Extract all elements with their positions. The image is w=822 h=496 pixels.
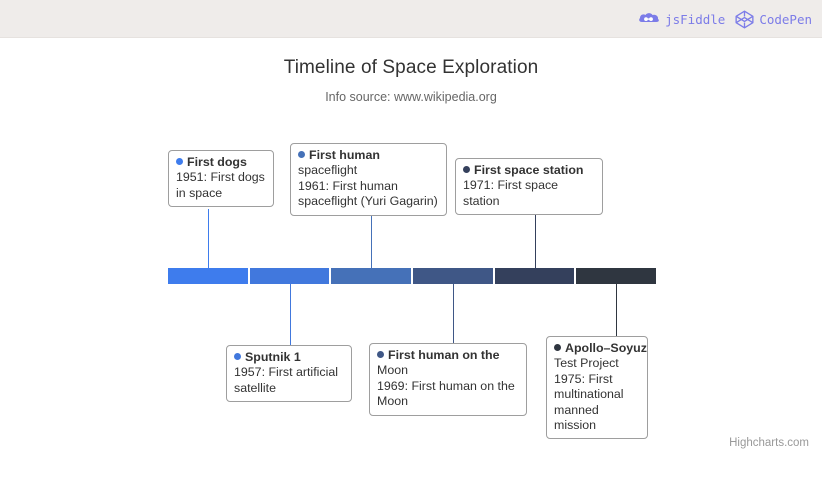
timeline-label-box[interactable]: First dogs1951: First dogs in space (168, 150, 274, 207)
jsfiddle-label: jsFiddle (665, 12, 725, 27)
timeline-label-description: 1961: First human spaceflight (Yuri Gaga… (298, 179, 439, 210)
timeline-label-name: Sputnik 1 (245, 350, 301, 364)
timeline-label-name: First human on the (388, 348, 500, 362)
timeline-label-title: Apollo–Soyuz (554, 341, 640, 356)
timeline-label-description: 1971: First space station (463, 178, 595, 209)
timeline-label-title: Sputnik 1 (234, 350, 344, 365)
timeline-label-description: 1951: First dogs in space (176, 170, 266, 201)
timeline-label-name: First space station (474, 163, 583, 177)
timeline-label-name-cont: spaceflight (298, 163, 439, 178)
timeline-segment[interactable] (413, 268, 493, 284)
timeline-connector (453, 284, 454, 343)
chart-title: Timeline of Space Exploration (0, 57, 822, 79)
topbar: jsFiddle CodePen (0, 0, 822, 38)
timeline-segment[interactable] (576, 268, 656, 284)
timeline-connector (208, 209, 209, 268)
timeline-label-title: First human on the (377, 348, 519, 363)
timeline-label-name: First human (309, 148, 380, 162)
jsfiddle-link[interactable]: jsFiddle (638, 11, 725, 27)
chart-page: jsFiddle CodePen (0, 0, 822, 496)
timeline-label-box[interactable]: Sputnik 11957: First artificial satellit… (226, 345, 352, 402)
timeline-point-dot-icon (298, 151, 305, 158)
codepen-link[interactable]: CodePen (735, 10, 812, 29)
jsfiddle-icon (638, 11, 660, 27)
timeline-segment[interactable] (168, 268, 248, 284)
timeline-label-name: First dogs (187, 155, 247, 169)
timeline-label-name-cont: Moon (377, 363, 519, 378)
timeline-label-description: 1975: First multinational manned mission (554, 372, 640, 434)
highcharts-credits[interactable]: Highcharts.com (729, 437, 809, 449)
timeline-point-dot-icon (554, 344, 561, 351)
timeline-point-dot-icon (176, 158, 183, 165)
topbar-links: jsFiddle CodePen (638, 0, 812, 38)
timeline-connector (371, 212, 372, 268)
timeline-connector (290, 284, 291, 345)
timeline-point-dot-icon (377, 351, 384, 358)
timeline-segment[interactable] (331, 268, 411, 284)
timeline-label-name-cont: Test Project (554, 356, 640, 371)
timeline-label-name: Apollo–Soyuz (565, 341, 647, 355)
codepen-icon (735, 10, 754, 29)
timeline-segment[interactable] (495, 268, 575, 284)
timeline-label-description: 1957: First artificial satellite (234, 365, 344, 396)
timeline-label-title: First space station (463, 163, 595, 178)
timeline-label-title: First dogs (176, 155, 266, 170)
timeline-segment[interactable] (250, 268, 330, 284)
timeline-label-box[interactable]: First humanspaceflight1961: First human … (290, 143, 447, 216)
timeline-label-box[interactable]: First human on theMoon1969: First human … (369, 343, 527, 416)
timeline-label-title: First human (298, 148, 439, 163)
timeline-label-box[interactable]: First space station1971: First space sta… (455, 158, 603, 215)
timeline-label-box[interactable]: Apollo–SoyuzTest Project1975: First mult… (546, 336, 648, 439)
timeline-point-dot-icon (463, 166, 470, 173)
chart-subtitle: Info source: www.wikipedia.org (0, 90, 822, 104)
timeline-label-description: 1969: First human on the Moon (377, 379, 519, 410)
codepen-label: CodePen (759, 12, 812, 27)
timeline-connector (616, 284, 617, 336)
timeline-axis (168, 268, 656, 284)
timeline-point-dot-icon (234, 353, 241, 360)
